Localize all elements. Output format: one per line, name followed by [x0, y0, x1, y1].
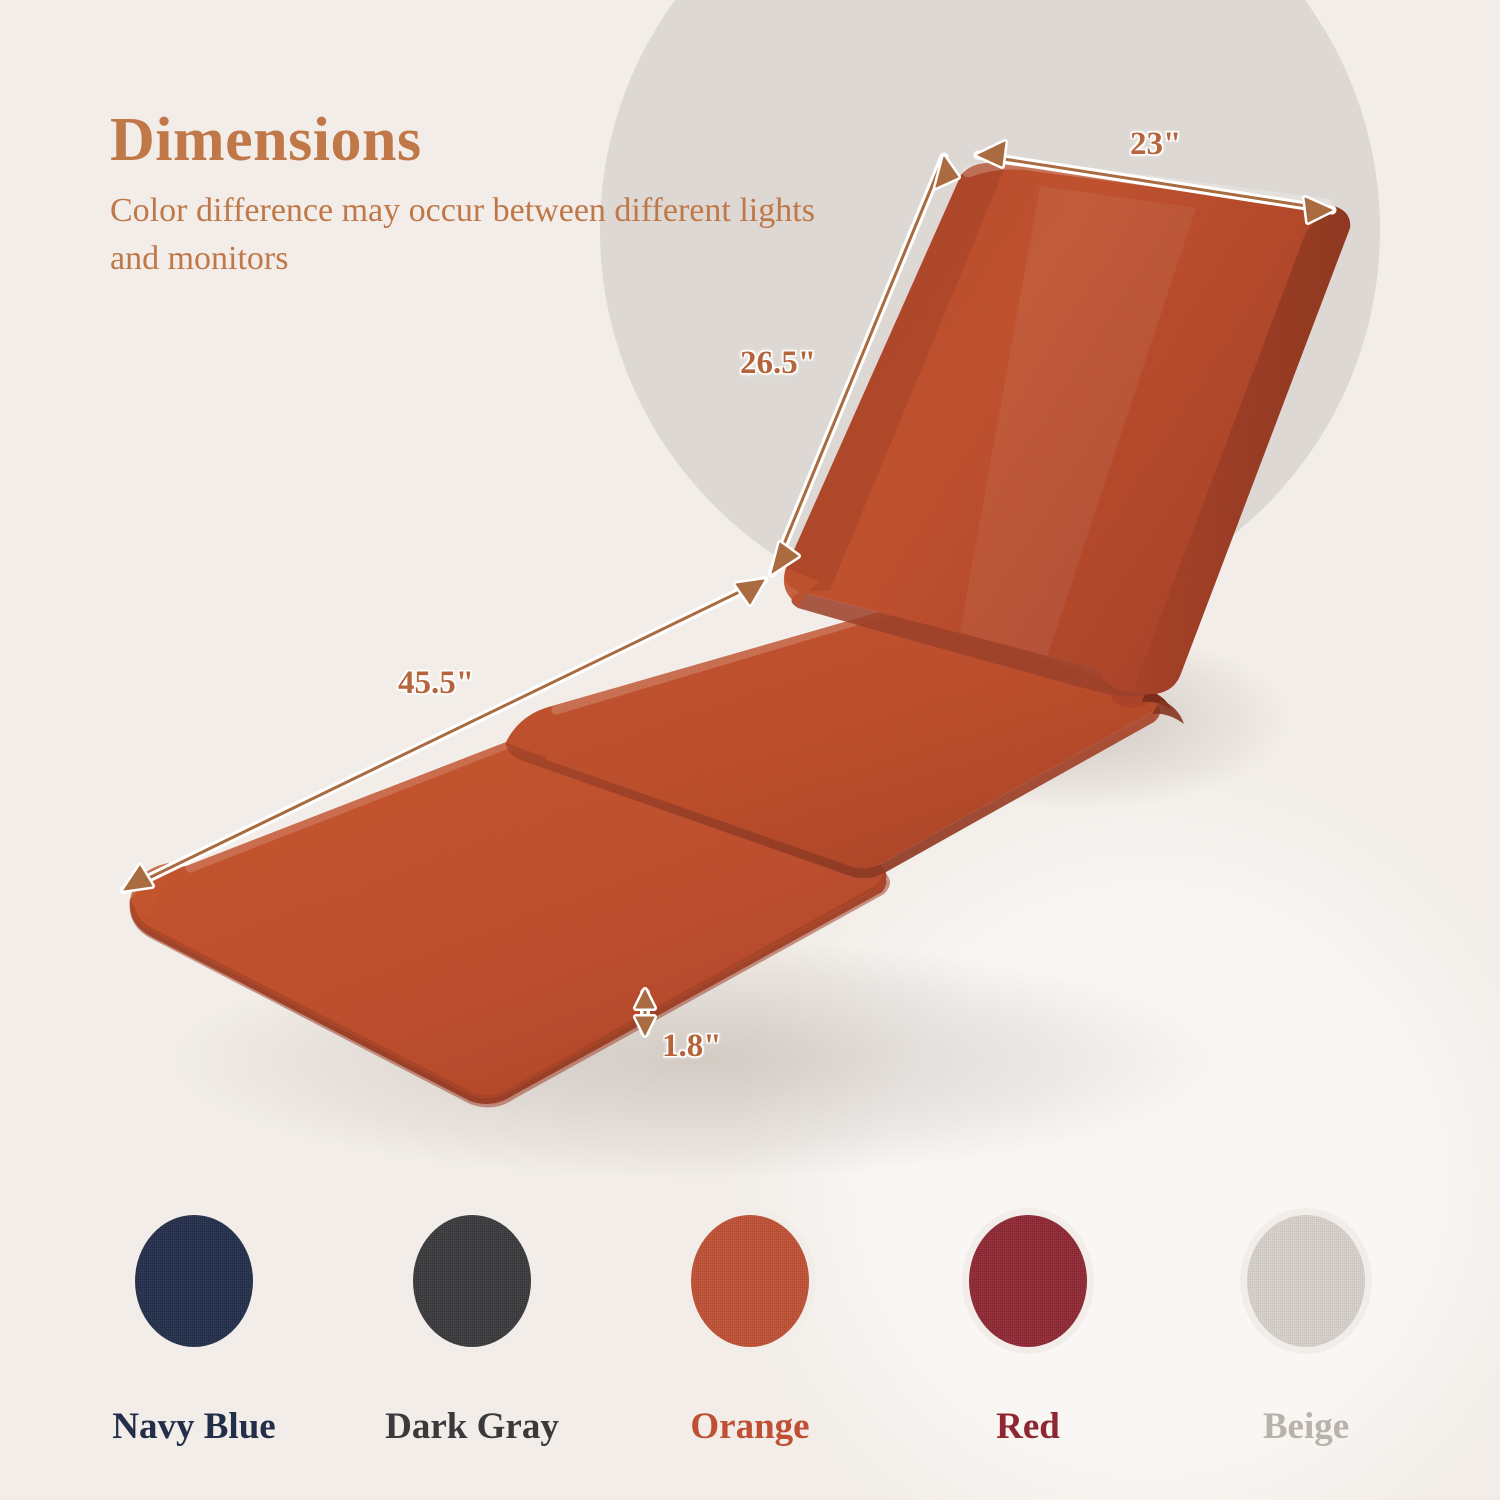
swatch-label-navy-blue: Navy Blue — [112, 1405, 275, 1448]
swatch-dot-red[interactable] — [969, 1215, 1087, 1347]
swatch-dot-navy-blue[interactable] — [135, 1215, 253, 1347]
swatch-label-orange: Orange — [690, 1405, 809, 1448]
infographic-canvas: Dimensions Color difference may occur be… — [0, 0, 1500, 1500]
color-option-navy-blue[interactable]: Navy Blue — [55, 1215, 333, 1448]
swatch-label-dark-gray: Dark Gray — [385, 1405, 559, 1448]
swatch-dot-dark-gray[interactable] — [413, 1215, 531, 1347]
dimension-label-length: 45.5" — [398, 665, 474, 702]
color-option-beige[interactable]: Beige — [1167, 1215, 1445, 1448]
swatch-dot-orange[interactable] — [691, 1215, 809, 1347]
color-option-orange[interactable]: Orange — [611, 1215, 889, 1448]
color-swatch-row: Navy Blue Dark Gray Orange Red Beige — [0, 1215, 1500, 1448]
dimension-label-width: 23" — [1130, 126, 1181, 163]
swatch-label-red: Red — [996, 1405, 1060, 1448]
dimension-label-thickness: 1.8" — [662, 1028, 722, 1065]
color-option-red[interactable]: Red — [889, 1215, 1167, 1448]
swatch-label-beige: Beige — [1263, 1405, 1349, 1448]
dimension-label-backrest-height: 26.5" — [740, 345, 816, 382]
swatch-dot-beige[interactable] — [1247, 1215, 1365, 1347]
backrest-panel — [784, 163, 1350, 697]
color-option-dark-gray[interactable]: Dark Gray — [333, 1215, 611, 1448]
